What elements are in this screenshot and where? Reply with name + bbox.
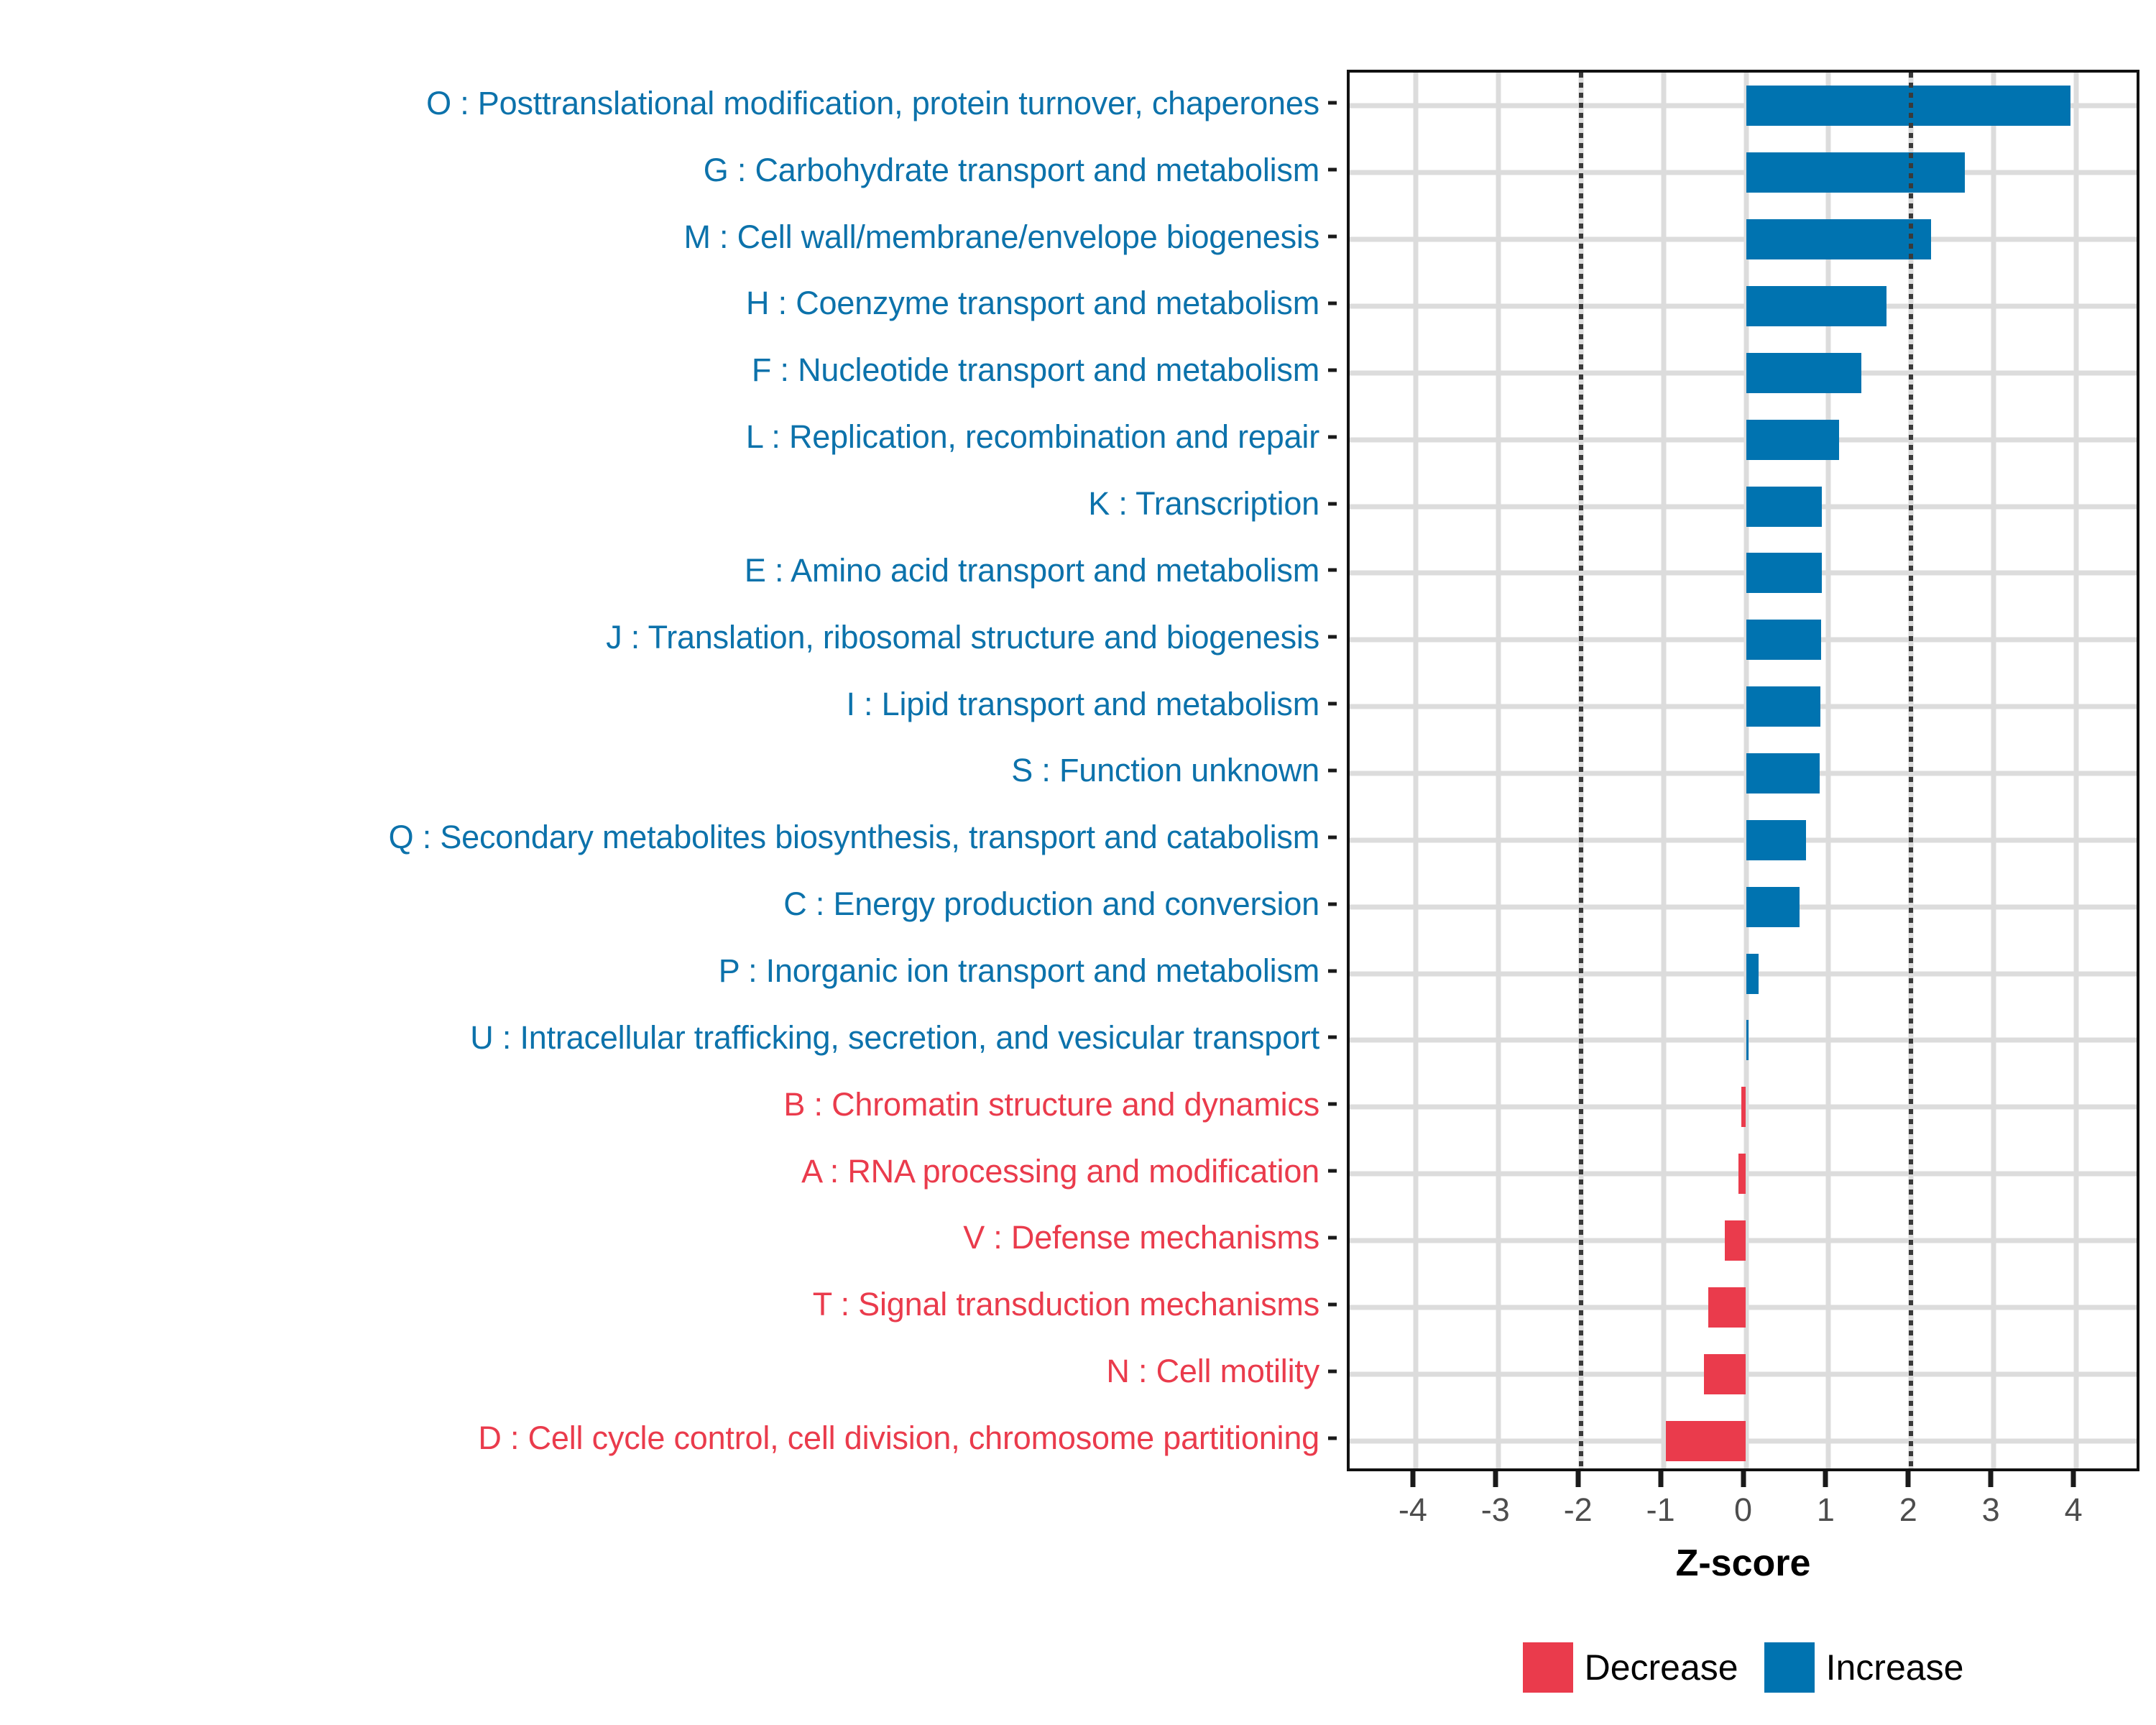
- category-label: A : RNA processing and modification: [801, 1155, 1319, 1187]
- y-axis-label-row: B : Chromatin structure and dynamics: [0, 1071, 1330, 1138]
- bar: [1746, 1020, 1749, 1060]
- bar: [1738, 1154, 1746, 1194]
- y-axis-category-labels: O : Posttranslational modification, prot…: [0, 70, 1330, 1471]
- legend: DecreaseIncrease: [1347, 1642, 2139, 1693]
- y-axis-label-row: A : RNA processing and modification: [0, 1138, 1330, 1205]
- y-axis-label-row: U : Intracellular trafficking, secretion…: [0, 1004, 1330, 1071]
- x-axis-tick-label: -3: [1481, 1491, 1510, 1529]
- x-axis-tick-label: 0: [1734, 1491, 1752, 1529]
- x-axis-tick-mark: [1823, 1471, 1828, 1487]
- bar: [1746, 753, 1820, 793]
- threshold-line: [1579, 73, 1583, 1468]
- x-axis-tick-mark: [1493, 1471, 1498, 1487]
- bar: [1746, 686, 1820, 727]
- category-label: Q : Secondary metabolites biosynthesis, …: [389, 821, 1319, 853]
- bar: [1746, 820, 1807, 860]
- y-axis-tick-mark: [1328, 835, 1337, 839]
- category-label: E : Amino acid transport and metabolism: [745, 554, 1319, 586]
- bar: [1725, 1220, 1746, 1261]
- y-axis-label-row: I : Lipid transport and metabolism: [0, 671, 1330, 737]
- y-axis-label-row: F : Nucleotide transport and metabolism: [0, 336, 1330, 403]
- category-label: H : Coenzyme transport and metabolism: [746, 287, 1319, 319]
- bar: [1704, 1354, 1746, 1394]
- y-axis-tick-mark: [1328, 635, 1337, 639]
- bar: [1746, 353, 1862, 393]
- category-label: S : Function unknown: [1011, 754, 1319, 786]
- x-axis-tick-mark: [1575, 1471, 1580, 1487]
- y-axis-label-row: J : Translation, ribosomal structure and…: [0, 604, 1330, 671]
- y-axis-tick-mark: [1328, 1436, 1337, 1440]
- y-axis-tick-mark: [1328, 1369, 1337, 1373]
- cog-zscore-bar-chart: O : Posttranslational modification, prot…: [0, 0, 2156, 1725]
- bar: [1746, 219, 1931, 259]
- y-axis-tick-mark: [1328, 702, 1337, 706]
- y-axis-label-row: N : Cell motility: [0, 1338, 1330, 1404]
- y-axis-label-row: M : Cell wall/membrane/envelope biogenes…: [0, 203, 1330, 270]
- x-axis-tick-label: -4: [1399, 1491, 1427, 1529]
- y-axis-label-row: Q : Secondary metabolites biosynthesis, …: [0, 804, 1330, 870]
- bar: [1746, 487, 1823, 527]
- x-axis-tick-mark: [1658, 1471, 1663, 1487]
- vertical-gridline: [1413, 73, 1418, 1468]
- bar: [1746, 86, 2071, 126]
- bar: [1746, 420, 1840, 460]
- y-axis-label-row: G : Carbohydrate transport and metabolis…: [0, 137, 1330, 203]
- x-axis-tick-mark: [1410, 1471, 1415, 1487]
- category-label: K : Transcription: [1088, 487, 1319, 520]
- vertical-gridline: [2074, 73, 2079, 1468]
- category-label: N : Cell motility: [1106, 1355, 1319, 1387]
- category-label: G : Carbohydrate transport and metabolis…: [704, 154, 1319, 186]
- category-label: M : Cell wall/membrane/envelope biogenes…: [683, 221, 1319, 253]
- y-axis-tick-mark: [1328, 368, 1337, 372]
- y-axis-label-row: H : Coenzyme transport and metabolism: [0, 270, 1330, 337]
- y-axis-tick-mark: [1328, 301, 1337, 305]
- y-axis-label-row: L : Replication, recombination and repai…: [0, 403, 1330, 470]
- category-label: I : Lipid transport and metabolism: [846, 688, 1319, 720]
- vertical-gridline: [1661, 73, 1666, 1468]
- category-label: D : Cell cycle control, cell division, c…: [478, 1422, 1319, 1454]
- x-axis-tick-label: -2: [1564, 1491, 1593, 1529]
- bar: [1746, 620, 1822, 660]
- bar: [1666, 1421, 1746, 1461]
- y-axis-label-row: D : Cell cycle control, cell division, c…: [0, 1404, 1330, 1471]
- y-axis-label-row: C : Energy production and conversion: [0, 870, 1330, 937]
- y-axis-tick-mark: [1328, 435, 1337, 438]
- legend-swatch: [1523, 1642, 1573, 1693]
- x-axis-tick-mark: [1741, 1471, 1746, 1487]
- legend-swatch: [1764, 1642, 1815, 1693]
- x-axis-tick-label: 4: [2065, 1491, 2083, 1529]
- y-axis-tick-mark: [1328, 1169, 1337, 1173]
- y-axis-tick-mark: [1328, 502, 1337, 505]
- vertical-gridline: [1826, 73, 1831, 1468]
- x-axis-tick-mark: [1906, 1471, 1911, 1487]
- y-axis-tick-mark: [1328, 1036, 1337, 1039]
- y-axis-label-row: T : Signal transduction mechanisms: [0, 1271, 1330, 1338]
- bar: [1746, 286, 1886, 326]
- bar: [1708, 1287, 1746, 1328]
- bar: [1741, 1087, 1746, 1127]
- legend-item[interactable]: Decrease: [1523, 1642, 1738, 1693]
- bar: [1746, 152, 1965, 193]
- y-axis-tick-mark: [1328, 101, 1337, 105]
- vertical-gridline: [1496, 73, 1501, 1468]
- x-axis-title: Z-score: [1347, 1542, 2139, 1585]
- bar: [1746, 887, 1800, 927]
- category-label: U : Intracellular trafficking, secretion…: [470, 1021, 1319, 1054]
- legend-label: Increase: [1826, 1647, 1964, 1688]
- y-axis-tick-mark: [1328, 569, 1337, 572]
- y-axis-tick-mark: [1328, 1302, 1337, 1306]
- category-label: F : Nucleotide transport and metabolism: [752, 354, 1319, 386]
- y-axis-tick-mark: [1328, 1103, 1337, 1106]
- y-axis-tick-mark: [1328, 168, 1337, 172]
- y-axis-label-row: P : Inorganic ion transport and metaboli…: [0, 937, 1330, 1004]
- x-axis-tick-label: 1: [1817, 1491, 1835, 1529]
- bar: [1746, 553, 1823, 593]
- threshold-line: [1909, 73, 1913, 1468]
- y-axis-tick-mark: [1328, 768, 1337, 772]
- category-label: B : Chromatin structure and dynamics: [783, 1088, 1319, 1121]
- vertical-gridline: [1991, 73, 1996, 1468]
- y-axis-label-row: E : Amino acid transport and metabolism: [0, 537, 1330, 604]
- category-label: C : Energy production and conversion: [783, 888, 1319, 920]
- y-axis-label-row: O : Posttranslational modification, prot…: [0, 70, 1330, 137]
- x-axis-tick-label: 2: [1899, 1491, 1917, 1529]
- category-label: L : Replication, recombination and repai…: [746, 420, 1319, 453]
- category-label: T : Signal transduction mechanisms: [813, 1288, 1319, 1320]
- x-axis-tick-mark: [1989, 1471, 1994, 1487]
- bar: [1746, 954, 1759, 994]
- x-axis-tick-mark: [2071, 1471, 2076, 1487]
- category-label: P : Inorganic ion transport and metaboli…: [719, 954, 1319, 987]
- x-axis-tick-label: -1: [1646, 1491, 1675, 1529]
- category-label: O : Posttranslational modification, prot…: [426, 87, 1319, 119]
- x-axis-tick-label: 3: [1982, 1491, 2000, 1529]
- plot-panel: [1347, 70, 2139, 1471]
- y-axis-label-row: V : Defense mechanisms: [0, 1205, 1330, 1271]
- y-axis-label-row: K : Transcription: [0, 470, 1330, 537]
- y-axis-tick-mark: [1328, 902, 1337, 906]
- category-label: J : Translation, ribosomal structure and…: [606, 621, 1319, 653]
- legend-label: Decrease: [1585, 1647, 1738, 1688]
- y-axis-tick-mark: [1328, 235, 1337, 239]
- y-axis-tick-mark: [1328, 1236, 1337, 1239]
- x-axis: -4-3-2-101234: [1347, 1471, 2139, 1472]
- legend-item[interactable]: Increase: [1764, 1642, 1964, 1693]
- category-label: V : Defense mechanisms: [963, 1221, 1319, 1253]
- y-axis-tick-mark: [1328, 969, 1337, 972]
- y-axis-label-row: S : Function unknown: [0, 737, 1330, 804]
